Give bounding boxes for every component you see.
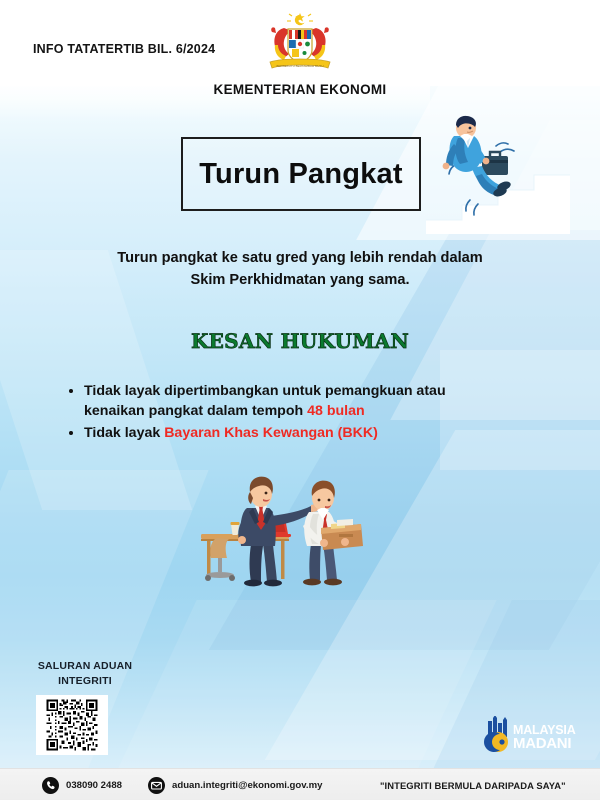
- footer-slogan: "INTEGRITI BERMULA DARIPADA SAYA": [380, 769, 566, 800]
- subtitle: Turun pangkat ke satu gred yang lebih re…: [80, 248, 520, 292]
- list-item: Tidak layak dipertimbangkan untuk pemang…: [84, 381, 508, 421]
- footer-slogan-text: "INTEGRITI BERMULA DARIPADA SAYA": [380, 780, 566, 791]
- subtitle-line-1: Turun pangkat ke satu gred yang lebih re…: [80, 248, 520, 270]
- footer-bar: 038090 2488 aduan.integriti@ekonomi.gov.…: [0, 768, 600, 800]
- list-item: Tidak layak Bayaran Khas Kewangan (BKK): [84, 423, 508, 443]
- subtitle-line-2: Skim Perkhidmatan yang sama.: [80, 270, 520, 292]
- bullet-text-highlight: Bayaran Khas Kewangan (BKK): [164, 425, 378, 441]
- page-title: Turun Pangkat: [199, 158, 402, 191]
- boss-dismissing-employee-illustration: [193, 472, 383, 588]
- complaint-label-line-2: INTEGRITI: [25, 674, 145, 689]
- poster-canvas: INFO TATATERTIB BIL. 6/2024: [0, 0, 600, 800]
- bullet-text-plain: Tidak layak dipertimbangkan untuk pemang…: [84, 383, 446, 419]
- footer-phone[interactable]: 038090 2488: [42, 769, 122, 800]
- complaint-label-line-1: SALURAN ADUAN: [25, 659, 145, 674]
- malaysia-madani-logo-icon: MALAYSIA MADANI: [484, 716, 588, 756]
- footer-email[interactable]: aduan.integriti@ekonomi.gov.my: [148, 769, 322, 800]
- info-bulletin-number: INFO TATATERTIB BIL. 6/2024: [33, 42, 215, 56]
- bullet-text-plain: Tidak layak: [84, 425, 164, 441]
- footer-email-address: aduan.integriti@ekonomi.gov.my: [172, 780, 322, 791]
- effects-list: Tidak layak dipertimbangkan untuk pemang…: [68, 381, 508, 445]
- envelope-icon: [148, 777, 165, 794]
- madani-line-2: MADANI: [513, 735, 571, 752]
- qr-code-icon[interactable]: [36, 695, 108, 755]
- svg-text:BERSEKUTU BERTAMBAH MUTU: BERSEKUTU BERTAMBAH MUTU: [276, 64, 323, 68]
- title-box: Turun Pangkat: [181, 137, 421, 211]
- complaint-channel-label: SALURAN ADUAN INTEGRITI: [25, 659, 145, 689]
- phone-icon: [42, 777, 59, 794]
- malaysia-coat-of-arms-icon: BERSEKUTU BERTAMBAH MUTU: [262, 12, 338, 74]
- ministry-name: KEMENTERIAN EKONOMI: [0, 82, 600, 97]
- section-heading: KESAN HUKUMAN: [0, 329, 600, 353]
- bullet-text-highlight: 48 bulan: [307, 403, 365, 419]
- businessman-falling-down-stairs-illustration: [424, 108, 600, 236]
- footer-phone-number: 038090 2488: [66, 780, 122, 791]
